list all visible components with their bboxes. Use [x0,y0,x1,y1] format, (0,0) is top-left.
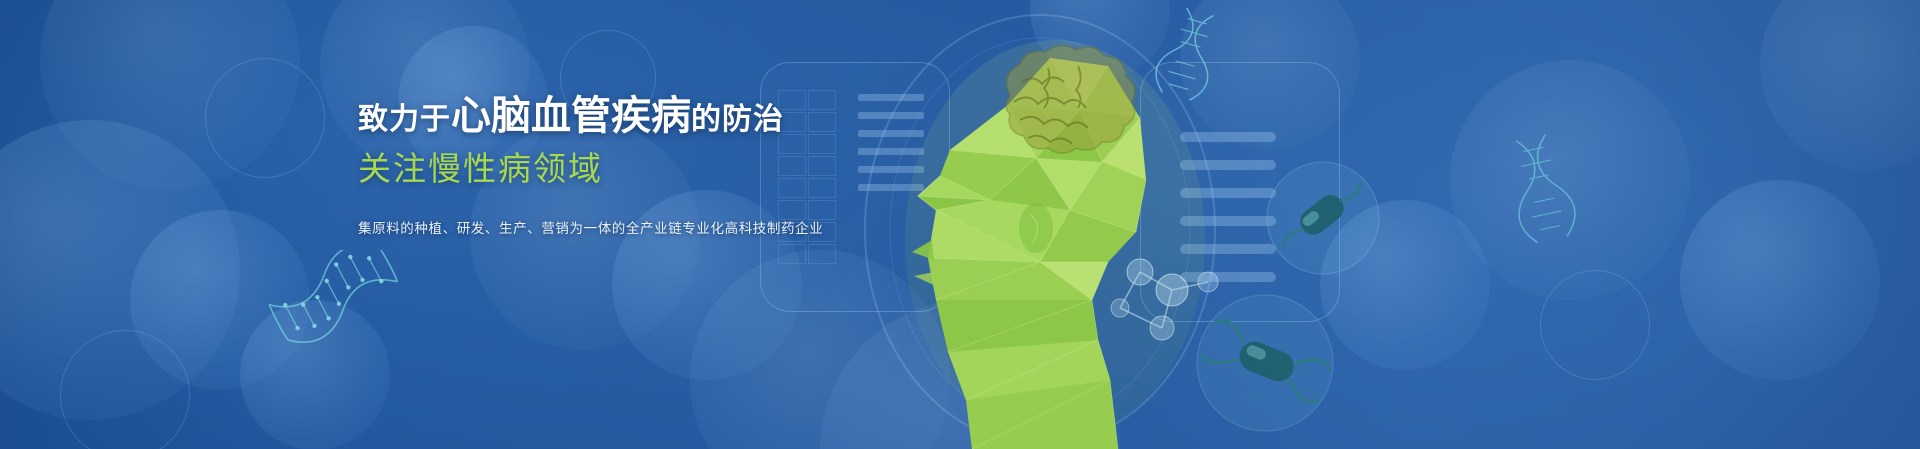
brain-figure [1006,45,1135,153]
banner-subhead: 关注慢性病领域 [358,152,818,185]
banner-tagline: 集原料的种植、研发、生产、营销为一体的全产业链专业化高科技制药企业 [358,217,818,237]
banner-headline: 致力于心脑血管疾病的防治 [358,96,818,136]
bacteria-upper [1258,158,1388,278]
headline-emphasis: 心脑血管疾病 [451,96,691,136]
headline-prefix: 致力于 [358,105,451,135]
dna-helix-left [268,250,418,360]
banner-text-block: 致力于心脑血管疾病的防治 关注慢性病领域 集原料的种植、研发、生产、营销为一体的… [358,96,818,237]
headline-suffix: 的防治 [691,105,784,135]
dna-helix-right [1500,130,1590,260]
low-poly-head-figure [840,0,1260,449]
hero-banner: 致力于心脑血管疾病的防治 关注慢性病领域 集原料的种植、研发、生产、营销为一体的… [0,0,1920,449]
